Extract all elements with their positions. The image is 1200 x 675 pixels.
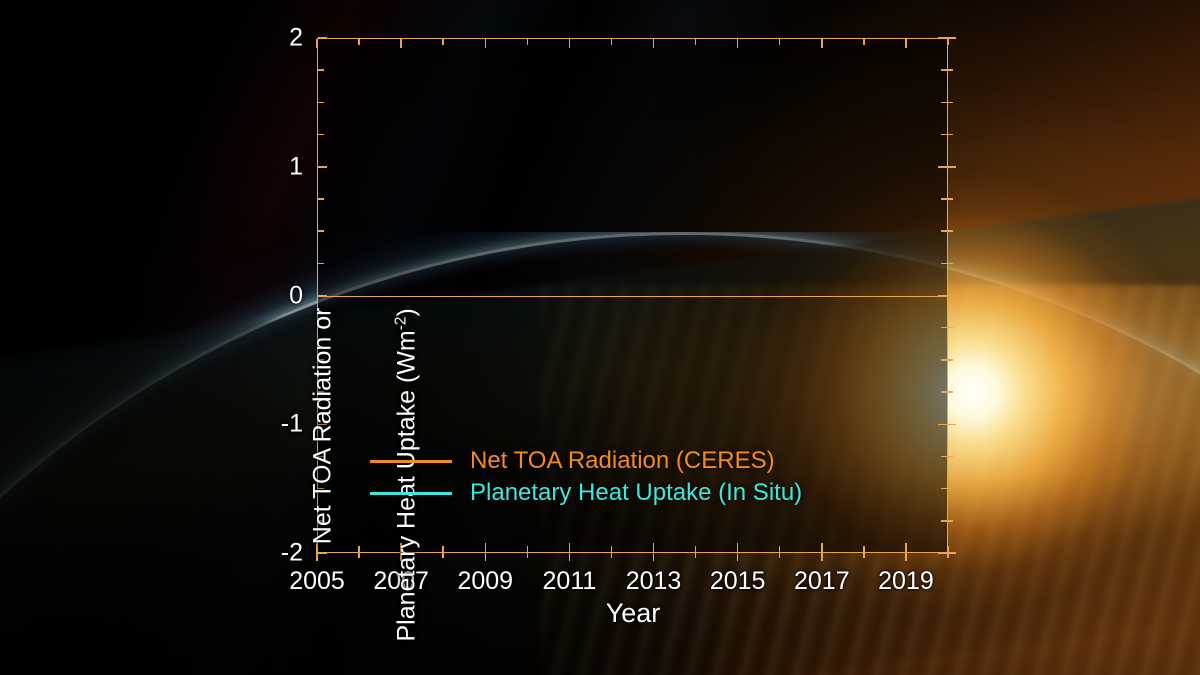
x-tick-outer-2016 <box>779 552 781 558</box>
y-tick-right-0 <box>938 295 947 297</box>
x-tick-label-2015: 2015 <box>710 567 766 596</box>
x-axis-title: Year <box>606 598 661 629</box>
x-tick-top-2005 <box>316 39 318 48</box>
x-tick-bottom-2019 <box>905 543 907 552</box>
x-tick-top-2014 <box>695 39 697 45</box>
x-tick-outer-2020 <box>947 552 949 558</box>
legend-label: Net TOA Radiation (CERES) <box>470 447 775 475</box>
y-tick-outer-1.25 <box>947 134 953 136</box>
y-tick-left-1.75 <box>318 69 324 71</box>
y-tick-right--1 <box>938 424 947 426</box>
legend-line-swatch <box>370 460 452 463</box>
x-tick-top-2016 <box>779 39 781 45</box>
x-tick-outer-2011 <box>569 552 571 561</box>
x-tick-outer-2012 <box>611 552 613 558</box>
x-tick-top-2020 <box>947 39 949 45</box>
y-tick-left-1.25 <box>318 134 324 136</box>
y-tick-outer--0.25 <box>947 327 953 329</box>
y-tick-outer-1.75 <box>947 69 953 71</box>
y-tick-outer-1 <box>947 166 956 168</box>
y-tick-right-2 <box>938 37 947 39</box>
x-tick-label-2011: 2011 <box>543 567 597 596</box>
x-tick-top-2015 <box>737 39 739 48</box>
x-tick-label-2005: 2005 <box>289 567 345 596</box>
x-tick-top-2010 <box>527 39 529 45</box>
x-tick-outer-2006 <box>358 552 360 558</box>
x-tick-bottom-2009 <box>485 543 487 552</box>
y-tick-left-1.5 <box>318 102 324 104</box>
y-tick-left-2 <box>318 37 327 39</box>
y-tick-left-0.75 <box>318 198 324 200</box>
legend-label: Planetary Heat Uptake (In Situ) <box>470 479 802 507</box>
x-tick-top-2008 <box>442 39 444 45</box>
y-tick-outer--1.5 <box>947 488 953 490</box>
y-tick-right-1 <box>938 166 947 168</box>
x-tick-top-2017 <box>821 39 823 48</box>
y-tick-outer-0 <box>947 295 956 297</box>
y-tick-outer--0.75 <box>947 391 953 393</box>
y-tick-outer--1.75 <box>947 520 953 522</box>
y-tick-right--2 <box>938 552 947 554</box>
x-tick-top-2012 <box>611 39 613 45</box>
x-tick-outer-2008 <box>442 552 444 558</box>
y-axis-title-exponent: -2 <box>392 316 409 330</box>
x-tick-outer-2009 <box>485 552 487 561</box>
x-tick-top-2007 <box>400 39 402 48</box>
y-tick-outer-0.75 <box>947 198 953 200</box>
x-tick-bottom-2011 <box>569 543 571 552</box>
y-tick-left-0 <box>318 295 327 297</box>
x-tick-outer-2005 <box>316 552 318 561</box>
y-axis-title-line1: Net TOA Radiation or <box>310 308 335 545</box>
legend-item-1[interactable]: Net TOA Radiation (CERES) <box>370 447 775 475</box>
x-tick-label-2019: 2019 <box>878 567 934 596</box>
x-tick-outer-2019 <box>905 552 907 561</box>
y-tick-outer--0.5 <box>947 359 953 361</box>
y-tick-label--2: -2 <box>233 539 303 568</box>
y-tick-left-0.25 <box>318 263 324 265</box>
x-tick-outer-2015 <box>737 552 739 561</box>
legend-line-swatch <box>370 492 452 495</box>
y-tick-left--2 <box>318 552 327 554</box>
x-tick-top-2011 <box>569 39 571 48</box>
x-tick-outer-2010 <box>527 552 529 558</box>
x-tick-bottom-2017 <box>821 543 823 552</box>
x-tick-bottom-2013 <box>653 543 655 552</box>
y-tick-outer--1.25 <box>947 456 953 458</box>
x-tick-bottom-2005 <box>316 543 318 552</box>
x-tick-outer-2017 <box>821 552 823 561</box>
x-tick-label-2009: 2009 <box>457 567 513 596</box>
x-tick-top-2006 <box>358 39 360 45</box>
y-tick-label-2: 2 <box>233 24 303 53</box>
y-tick-outer--1 <box>947 424 956 426</box>
y-tick-label-1: 1 <box>233 152 303 181</box>
legend-item-2[interactable]: Planetary Heat Uptake (In Situ) <box>370 479 802 507</box>
y-tick-outer-0.5 <box>947 230 953 232</box>
y-tick-label-0: 0 <box>233 281 303 310</box>
x-tick-outer-2018 <box>863 552 865 558</box>
x-tick-label-2013: 2013 <box>626 567 682 596</box>
x-tick-bottom-2015 <box>737 543 739 552</box>
y-tick-outer-0.25 <box>947 263 953 265</box>
y-tick-left-0.5 <box>318 230 324 232</box>
x-tick-top-2019 <box>905 39 907 48</box>
y-tick-left-1 <box>318 166 327 168</box>
x-tick-top-2018 <box>863 39 865 45</box>
y-axis-title-units-suffix: ) <box>393 308 421 316</box>
x-tick-outer-2013 <box>653 552 655 561</box>
x-tick-top-2013 <box>653 39 655 48</box>
figure-canvas: 210-1-2 20052007200920112013201520172019… <box>0 0 1200 675</box>
x-tick-top-2009 <box>485 39 487 48</box>
x-tick-outer-2014 <box>695 552 697 558</box>
y-tick-label--1: -1 <box>233 410 303 439</box>
x-tick-label-2017: 2017 <box>794 567 850 596</box>
y-tick-outer-1.5 <box>947 102 953 104</box>
